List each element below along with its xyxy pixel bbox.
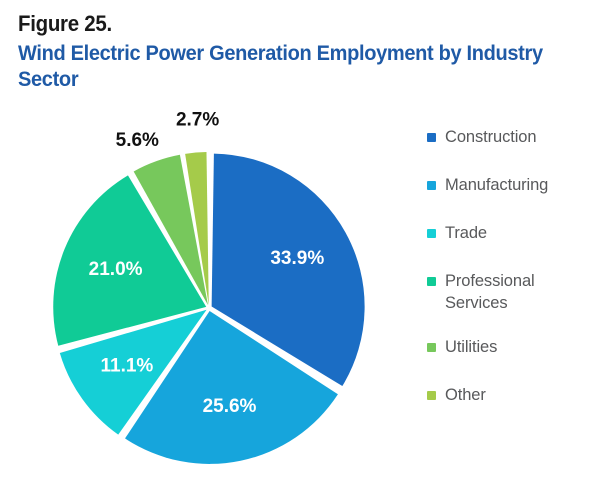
legend-item-label: Other <box>445 384 486 406</box>
legend-swatch-icon <box>427 277 436 286</box>
legend-swatch-icon <box>427 343 436 352</box>
pie-chart-svg: 33.9%25.6%11.1%21.0%5.6%2.7% <box>0 112 415 491</box>
page-title: Wind Electric Power Generation Employmen… <box>18 40 599 92</box>
legend-item-label: Manufacturing <box>445 174 548 196</box>
legend-item-label: Trade <box>445 222 487 244</box>
chart-legend: ConstructionManufacturingTradeProfession… <box>427 126 595 432</box>
pie-slice-label-professional-services: 21.0% <box>89 259 143 280</box>
figure-header: Figure 25. Wind Electric Power Generatio… <box>18 10 588 92</box>
legend-item-trade[interactable]: Trade <box>427 222 595 244</box>
legend-item-other[interactable]: Other <box>427 384 595 406</box>
pie-slice-label-manufacturing: 25.6% <box>203 396 257 417</box>
legend-swatch-icon <box>427 133 436 142</box>
pie-slice-label-utilities: 5.6% <box>116 130 159 151</box>
pie-slice-label-trade: 11.1% <box>100 356 153 377</box>
legend-item-utilities[interactable]: Utilities <box>427 336 595 358</box>
legend-swatch-icon <box>427 229 436 238</box>
figure-container: Figure 25. Wind Electric Power Generatio… <box>0 0 600 491</box>
legend-item-manufacturing[interactable]: Manufacturing <box>427 174 595 196</box>
pie-chart: 33.9%25.6%11.1%21.0%5.6%2.7% <box>0 112 415 491</box>
legend-item-construction[interactable]: Construction <box>427 126 595 148</box>
legend-item-label: Professional Services <box>445 270 595 314</box>
legend-swatch-icon <box>427 391 436 400</box>
legend-item-label: Utilities <box>445 336 497 358</box>
pie-slice-label-construction: 33.9% <box>270 248 324 269</box>
figure-number: Figure 25. <box>18 10 548 37</box>
legend-item-label: Construction <box>445 126 536 148</box>
legend-item-professional-services[interactable]: Professional Services <box>427 270 595 314</box>
legend-swatch-icon <box>427 181 436 190</box>
pie-slice-label-other: 2.7% <box>176 112 219 131</box>
